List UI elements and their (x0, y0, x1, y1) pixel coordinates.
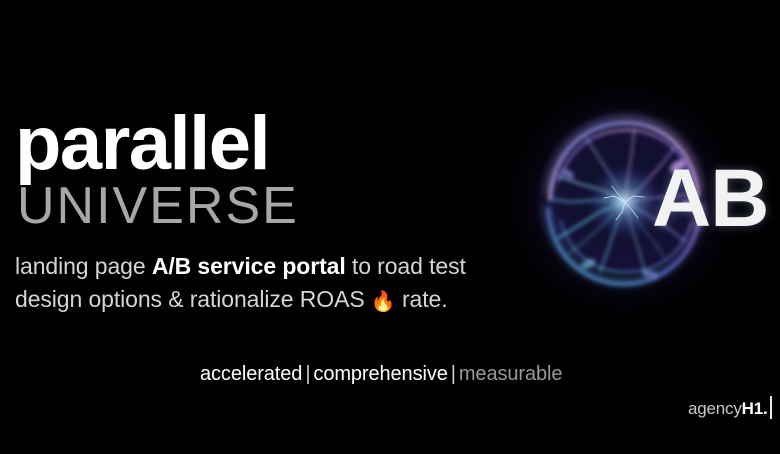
tagline-item-2: comprehensive (313, 363, 447, 385)
desc-line1-bold: A/B service portal (152, 253, 346, 279)
page-subtitle: UNIVERSE (17, 180, 299, 232)
tagline-separator-1: | (302, 363, 313, 385)
desc-line2-prefix: design options & rationalize ROAS (15, 286, 371, 312)
hero-banner: AB parallel UNIVERSE landing page A/B se… (0, 0, 780, 454)
tagline-item-3: measurable (459, 363, 563, 385)
orb-core-glow (588, 166, 662, 236)
description-line-2: design options & rationalize ROAS 🔥 rate… (15, 283, 466, 316)
tagline: accelerated|comprehensive|measurable (200, 363, 562, 386)
description-text: landing page A/B service portal to road … (15, 250, 466, 315)
ab-mark: AB (652, 158, 768, 240)
desc-line2-suffix: rate. (396, 286, 448, 312)
description-line-1: landing page A/B service portal to road … (15, 250, 466, 283)
tagline-item-1: accelerated (200, 363, 302, 385)
desc-line1-suffix: to road test (346, 253, 466, 279)
fire-icon: 🔥 (371, 288, 396, 316)
page-title: parallel (15, 106, 269, 182)
desc-line1-prefix: landing page (15, 253, 152, 279)
logo-bar-mark (770, 396, 772, 419)
logo-agency-text: agency (688, 399, 742, 419)
logo-h1-text: H1. (742, 399, 768, 419)
agency-logo: agencyH1. (688, 396, 772, 421)
tagline-separator-2: | (448, 363, 459, 385)
